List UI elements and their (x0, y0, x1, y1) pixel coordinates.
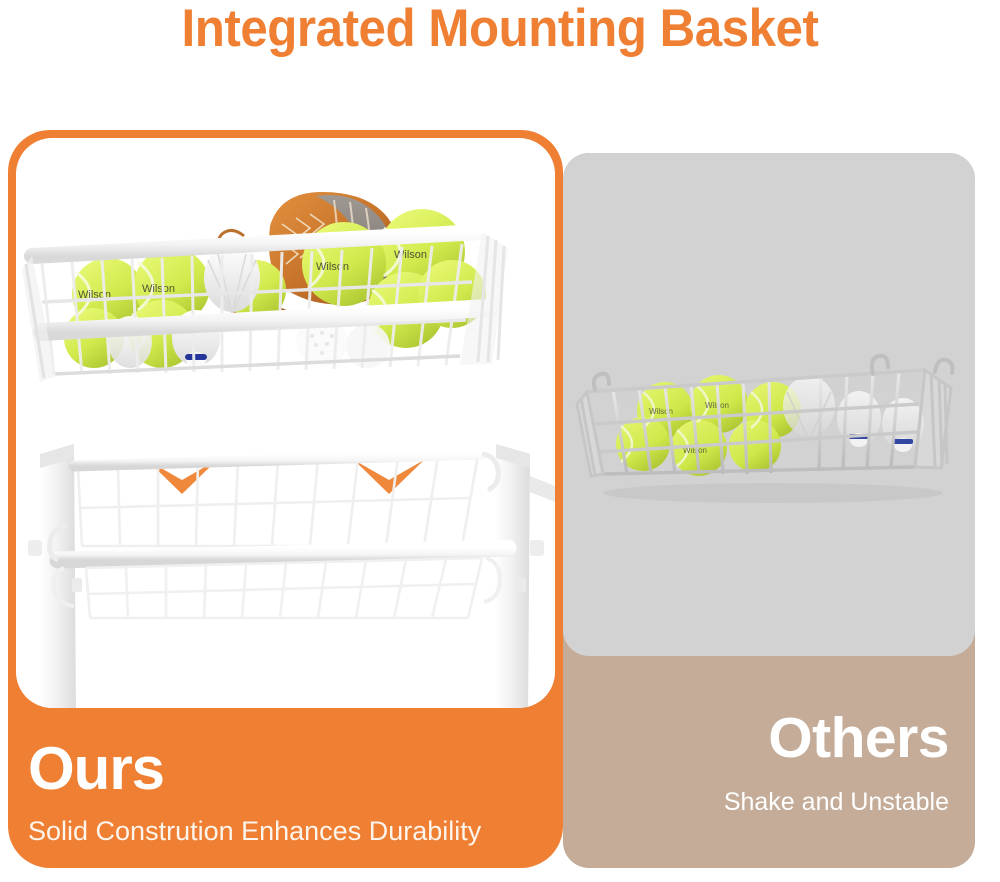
svg-text:Wilson: Wilson (142, 283, 175, 295)
ours-caption: Solid Constrution Enhances Durability (28, 816, 481, 847)
gray-wire-basket-photo: Wilson Wilson Wilson (573, 348, 965, 508)
white-rack-with-basket-photo (16, 428, 555, 708)
svg-text:Wilson: Wilson (316, 261, 349, 273)
others-panel: Wilson Wilson Wilson (563, 153, 975, 868)
ours-label: Ours (28, 734, 164, 803)
others-caption: Shake and Unstable (724, 788, 949, 817)
comparison-infographic: Integrated Mounting Basket (0, 0, 1000, 882)
ours-photo-area: Wilson Wilson Wilson Wilson Wilson (16, 138, 555, 708)
ours-panel: Wilson Wilson Wilson Wilson Wilson (8, 130, 563, 868)
others-photo-area: Wilson Wilson Wilson (563, 153, 975, 656)
white-filled-basket-photo: Wilson Wilson Wilson Wilson Wilson (20, 186, 520, 391)
page-title: Integrated Mounting Basket (35, 0, 965, 59)
svg-text:Wilson: Wilson (394, 249, 427, 261)
others-label: Others (768, 705, 949, 771)
